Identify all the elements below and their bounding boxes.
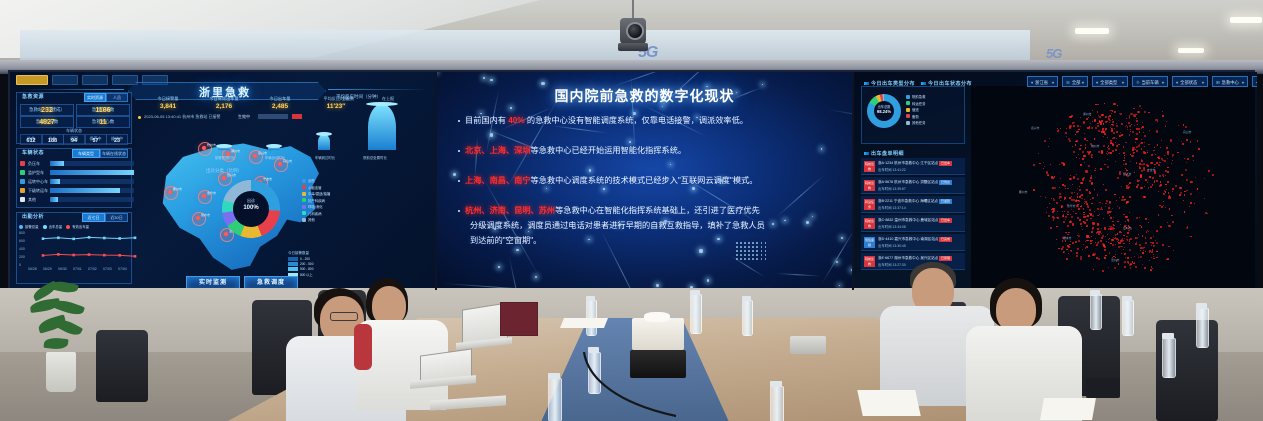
map-dot (1091, 236, 1092, 237)
alert-title-5: 浙E·6677 湖州市急救中心 吴兴区站点 (878, 256, 938, 261)
right-dashboard-panel[interactable]: 今日出车类型分布 今日出车状态分布 出车盘单明细 出车总数 98.24% 院前急… (853, 72, 1257, 290)
map-dot (1112, 244, 1114, 246)
trend-y-tick-3: 200 (19, 255, 25, 259)
map-dot (1078, 235, 1080, 237)
map-dot (1138, 145, 1140, 147)
map-label-1: 嘉兴市 (1031, 126, 1039, 130)
alert-pill-5: 已受理 (939, 256, 952, 261)
visit-legend-swatch-4 (302, 205, 306, 209)
map-dot (1056, 202, 1058, 204)
map-dot (1104, 103, 1105, 104)
visit-legend-item-1: 心脑血管 (302, 185, 330, 190)
map-dot (1160, 147, 1161, 148)
map-dot (1124, 253, 1126, 255)
map-dot (1086, 203, 1088, 205)
map-dot (1077, 217, 1079, 219)
map-dot (1136, 128, 1138, 130)
map-dot (1194, 203, 1195, 204)
trend-seg-0[interactable]: 近七日 (82, 213, 105, 222)
left-tab-2[interactable] (82, 75, 108, 85)
map-dot (1086, 219, 1088, 221)
slide-bullet-0-part-2: 的急救中心没有智能调度系统，仅靠电话接警，调派效率低。 (525, 116, 748, 125)
map-dot (1090, 213, 1092, 215)
map-dot (1193, 160, 1194, 161)
map-dot (1083, 208, 1085, 210)
visit-legend-item-5: 儿科疾病 (302, 211, 330, 216)
slide-bullet-1: 北京、上海、深圳等急救中心已经开始运用智能化指挥系统。 (458, 144, 834, 157)
map-dot (1124, 266, 1126, 268)
map-dot (1198, 148, 1200, 150)
map-dot (1166, 189, 1167, 190)
cable (580, 352, 720, 421)
map-city-label-6: 金华市 (207, 191, 216, 195)
map-dot (1046, 212, 1047, 213)
map-dot (1102, 243, 1104, 245)
slide-bullet-4: 分级调度系统，调度员通过电话对患者进行早期的自救互救指导，填补了急救人员 (470, 219, 846, 232)
filter-急救中心[interactable]: ⊞急救中心▾ (1212, 76, 1248, 87)
type-legend-swatch-0 (906, 95, 910, 99)
map-dot (1133, 263, 1135, 265)
visit-legend-swatch-6 (302, 218, 306, 222)
map-dot (1050, 227, 1052, 229)
net-line-14 (776, 273, 820, 276)
vehicle-bar-label-3: 下级转运车 (28, 188, 48, 193)
map-dot (1065, 219, 1066, 220)
map-dot (1092, 229, 1093, 230)
map-dot (1090, 199, 1091, 200)
map-dot (1125, 163, 1127, 165)
map-dot (1127, 232, 1129, 234)
map-dot (1121, 134, 1122, 135)
alert-pill-0: 已出车 (939, 161, 952, 166)
map-dot (1167, 167, 1168, 168)
map-dot (1108, 267, 1109, 268)
map-dot (1125, 142, 1126, 143)
map-dot (1065, 132, 1067, 134)
alert-badge-0: 院前急救 (864, 161, 875, 172)
map-dot (1127, 126, 1128, 127)
left-tab-3[interactable] (112, 75, 138, 85)
trend-legend-swatch-1 (43, 225, 47, 229)
map-label-2: 杭州市 (1091, 144, 1099, 148)
vehicle-bar-row-0: 负压车 (20, 161, 130, 167)
map-dot (1170, 139, 1172, 141)
map-dot (1126, 239, 1127, 240)
map-dot (1107, 213, 1109, 215)
vehicle-bar-label-4: 其他 (28, 197, 36, 202)
decor-dot (748, 246, 750, 248)
left-tab-0[interactable] (16, 75, 48, 85)
map-dot (1107, 151, 1108, 152)
vehicle-card-header: 车辆状态 (18, 149, 44, 158)
alert-pill-1: 已到达 (939, 180, 952, 185)
decor-dot (761, 242, 763, 244)
map-dot (1124, 261, 1126, 263)
trend-point (88, 236, 91, 239)
map-dot (1057, 217, 1059, 219)
map-dot (1073, 151, 1075, 153)
map-dot (1105, 130, 1106, 131)
map-dot (1116, 200, 1118, 202)
map-dot (1070, 214, 1072, 216)
trend-x-tick-2: 06/30 (58, 267, 67, 271)
map-dot (1092, 121, 1093, 122)
map-dot (1183, 124, 1185, 126)
map-dot (1143, 250, 1144, 251)
map-dot (1121, 253, 1122, 254)
map-dot (1168, 192, 1170, 194)
resource-seg-1[interactable]: 人员 (106, 93, 128, 102)
type-legend-item-4: 其他任务 (906, 120, 926, 125)
net-line-11 (613, 72, 675, 87)
map-dot (1184, 194, 1186, 196)
map-dot (1105, 189, 1107, 191)
map-dot (1159, 175, 1161, 177)
map-dot (1078, 154, 1079, 155)
decor-dot (740, 246, 742, 248)
potted-plant-left (28, 286, 92, 396)
water-bottle (690, 294, 702, 334)
map-dot (1096, 257, 1098, 259)
trend-point (88, 253, 91, 256)
donut-title: 出诊分类（比例） (206, 168, 242, 174)
map-dot (1172, 160, 1173, 161)
map-dot (1167, 171, 1169, 173)
map-dot (1086, 246, 1088, 248)
filter-caret-4: ▾ (1202, 77, 1204, 88)
map-dot (1069, 127, 1070, 128)
map-dot (1167, 222, 1169, 224)
person-scarf (354, 324, 372, 370)
donut-center-value: 100% (232, 205, 270, 211)
map-city-dot-5 (278, 162, 282, 166)
map-dot (1136, 186, 1138, 188)
decor-dot (744, 250, 746, 252)
resource-kpi-value-0: 232 (41, 107, 53, 114)
vehicle-bar-dot-2 (20, 179, 25, 184)
trend-legend-item-2: 有效出车量 (66, 224, 89, 229)
alert-time-2: 出车时间 13:37:14 (878, 205, 906, 210)
map-dot (1056, 239, 1057, 240)
decor-dot (752, 254, 754, 256)
map-dot (1129, 125, 1131, 127)
decor-dot (736, 242, 738, 244)
slide-bullet-2: 上海、南昌、南宁等急救中心调度系统的技术模式已经步入"互联网云调度"模式。 (458, 174, 834, 187)
map-dot (1137, 124, 1138, 125)
map-dot (1130, 113, 1132, 115)
map-dot (1104, 257, 1105, 258)
map-dot (1053, 178, 1054, 179)
map-dot (1195, 177, 1197, 179)
bullet-dot-3 (458, 210, 460, 212)
vehicle-bar-row-4: 其他 (20, 197, 130, 203)
paper-sheet (857, 390, 921, 416)
map-dot (1109, 202, 1111, 204)
map-dot (1075, 134, 1077, 136)
alert-row-2[interactable]: 转运任务浙B·2211 宁波市急救中心 海曙区站点出车时间 13:37:14已返… (861, 196, 965, 213)
vehicle-bar-track-2 (50, 179, 134, 184)
map-dot (1091, 218, 1092, 219)
map-dot (1088, 255, 1090, 257)
map-dot (1053, 219, 1055, 221)
map-dot (1125, 257, 1126, 258)
map-dot (1168, 196, 1170, 198)
map-dot (1128, 186, 1130, 188)
map-dot (1160, 226, 1162, 228)
map-dot (1103, 136, 1104, 137)
net-node-7 (656, 284, 659, 287)
map-dot (1085, 170, 1087, 172)
alert-badge-4: 值班备勤 (864, 237, 875, 248)
map-dot (1104, 249, 1106, 251)
decor-dot (765, 242, 767, 244)
trend-legend: 接警总量出车总量有效出车量 (19, 224, 89, 229)
map-dot (1111, 211, 1112, 212)
map-dot (1079, 189, 1081, 191)
decor-dot (761, 258, 763, 260)
alert-row-3[interactable]: 院前急救浙C·8832 温州市急救中心 鹿城区站点出车时间 13:34:08已出… (861, 215, 965, 232)
map-dot (1105, 236, 1106, 237)
filter-全部类型[interactable]: ▾全部类型▾ (1092, 76, 1128, 87)
map-dot (1148, 222, 1149, 223)
funnel-label-3: 院前总处置时长 (354, 155, 396, 160)
filter-caret-5: ▾ (1242, 77, 1244, 88)
map-dot (1204, 178, 1206, 180)
map-dot (1077, 125, 1079, 127)
map-dot (1100, 123, 1102, 125)
vehicle-bar-dot-0 (20, 161, 25, 166)
filter-caret-3: ▾ (1162, 77, 1164, 88)
laptop-screen (500, 302, 538, 336)
decor-dot-grid (736, 242, 766, 260)
camera-lens-icon (626, 22, 644, 40)
resource-seg-0[interactable]: 实时资源 (84, 93, 106, 102)
map-dot (1153, 236, 1154, 237)
map-dot (1068, 246, 1070, 248)
map-dot (1097, 123, 1099, 125)
filter-全部状态[interactable]: ▾全部状态▾ (1172, 76, 1208, 87)
map-dot (1105, 255, 1106, 256)
paper-sheet (560, 318, 608, 328)
map-dot (1106, 241, 1107, 242)
map-dot (1091, 127, 1093, 129)
map-dot (1160, 181, 1162, 183)
map-dot (1107, 154, 1108, 155)
trend-point (57, 253, 60, 256)
vehicle-seg-1[interactable]: 车辆在线状态 (100, 149, 128, 158)
map-dot (1051, 198, 1052, 199)
alert-badge-2: 转运任务 (864, 199, 875, 210)
map-dot (1098, 258, 1100, 260)
map-dot (1077, 200, 1079, 202)
map-dot (1115, 161, 1116, 162)
alert-title-1: 浙A·5678 杭州市急救中心 拱墅区站点 (878, 180, 938, 185)
alert-row-4[interactable]: 值班备勤浙D·4410 嘉兴市急救中心 南湖区站点出车时间 13:30:45已完… (861, 234, 965, 251)
map-dot (1144, 142, 1145, 143)
map-dot (1077, 188, 1079, 190)
left-tab-1[interactable] (52, 75, 78, 85)
trend-seg-1[interactable]: 近30日 (105, 213, 128, 222)
decor-dot (752, 258, 754, 260)
map-dot (1075, 213, 1077, 215)
filter-全部区域[interactable]: ⌖全部区域▾ (1252, 76, 1257, 87)
net-node-18 (589, 169, 592, 172)
visit-type-legend: 创伤心脑血管中毒/昏迷/抽搐妇产科疾病呼吸/消化儿科疾病其他 (302, 178, 330, 224)
map-label-7: 台州市 (1123, 226, 1131, 230)
map-dot (1080, 164, 1081, 165)
map-dot (1097, 223, 1099, 225)
water-bottle (1090, 294, 1102, 330)
map-label-8: 衢州市 (1019, 190, 1027, 194)
slide-bullet-5-part-0: 到达前的"空窗期"。 (470, 236, 541, 245)
map-dot (1165, 184, 1166, 185)
map-dot (1162, 115, 1164, 117)
map-dot (1141, 139, 1142, 140)
map-dot (1082, 229, 1084, 231)
map-dot (1109, 238, 1110, 239)
trend-x-tick-3: 07/01 (73, 267, 82, 271)
map-dot (1140, 250, 1141, 251)
map-dot (1129, 134, 1130, 135)
map-dot (1124, 155, 1125, 156)
map-dot (1108, 145, 1109, 146)
map-dot (1076, 255, 1078, 257)
map-dot (1144, 247, 1145, 248)
map-dot (1114, 128, 1116, 130)
map-dot (1047, 207, 1048, 208)
map-dot (1145, 237, 1147, 239)
filter-label-1: 全部 (1072, 80, 1081, 85)
map-dot (1083, 244, 1085, 246)
decor-dot (736, 246, 738, 248)
trend-x-tick-6: 07/04 (118, 267, 127, 271)
trend-y-tick-4: 0 (19, 263, 21, 267)
map-dot (1070, 178, 1071, 179)
map-dot (1071, 216, 1073, 218)
net-node-8 (707, 279, 710, 282)
map-dot (1104, 164, 1106, 166)
filter-label-0: 浙江省 (1035, 80, 1048, 85)
map-dot (1121, 239, 1123, 241)
resource-mini-4: 维修中23 (106, 134, 128, 145)
map-dot (1144, 135, 1146, 137)
map-dot (1156, 130, 1158, 132)
map-dot (1173, 250, 1174, 251)
map-dot (1090, 240, 1092, 242)
map-dot (1110, 217, 1112, 219)
bullet-dot-0 (458, 120, 460, 122)
map-dot (1116, 125, 1118, 127)
map-dot (1086, 140, 1088, 142)
map-dot (1082, 178, 1084, 180)
map-dot (1171, 163, 1172, 164)
map-dot (1189, 206, 1190, 207)
map-dot (1097, 228, 1099, 230)
slide-bullet-3: 杭州、济南、昆明、苏州等急救中心在智能化指挥系统基础上，还引进了医疗优先 (458, 204, 834, 217)
map-dot (1111, 130, 1113, 132)
map-dot (1038, 153, 1039, 154)
right-header-detail: 出车盘单明细 (871, 150, 904, 157)
map-dot (1119, 136, 1120, 137)
map-dot (1208, 170, 1210, 172)
decor-dot (752, 246, 754, 248)
map-dot (1138, 128, 1140, 130)
map-dot (1069, 140, 1071, 142)
right-point-map[interactable]: 湖州市嘉兴市杭州市绍兴市宁波市舟山市金华市台州市衢州市丽水市温州市 (971, 86, 1255, 290)
decor-dot (736, 258, 738, 260)
map-dot (1102, 203, 1103, 204)
type-legend-item-3: 备勤 (906, 114, 926, 119)
plant-leaf (55, 317, 83, 339)
trend-legend-swatch-2 (66, 225, 70, 229)
map-dot (1068, 253, 1069, 254)
alert-row-1[interactable]: 院前急救浙A·5678 杭州市急救中心 拱墅区站点出车时间 13:39:57已到… (861, 177, 965, 194)
map-dot (1125, 221, 1126, 222)
map-dot (1142, 122, 1143, 123)
map-dot (1129, 249, 1131, 251)
map-dot (1150, 269, 1152, 271)
left-dashboard-panel[interactable]: 浙里急救 今日接警量3,841今日有效出车量2,176今日出车量2,485平均反… (10, 72, 436, 290)
map-dot (1082, 151, 1084, 153)
map-dot (1119, 207, 1120, 208)
trend-point (72, 238, 75, 241)
map-dot (1153, 150, 1154, 151)
map-dot (1095, 168, 1096, 169)
map-dot (1145, 242, 1147, 244)
visit-legend-item-6: 其他 (302, 217, 330, 222)
plant-leaf (53, 297, 85, 318)
map-dot (1139, 217, 1140, 218)
map-dot (1185, 169, 1187, 171)
map-dot (1148, 231, 1150, 233)
decor-dot (748, 258, 750, 260)
filter-全部[interactable]: ☰全部▾ (1062, 76, 1088, 87)
visit-legend-label-0: 创伤 (308, 178, 315, 183)
map-dot (1175, 185, 1177, 187)
funnel-bar-2 (318, 134, 330, 150)
map-city-dot-3 (222, 176, 226, 180)
vehicle-bar-fill-4 (50, 197, 58, 202)
map-dot (1112, 221, 1114, 223)
map-dot (1115, 234, 1117, 236)
alert-row-0[interactable]: 院前急救浙A·1234 杭州市急救中心 江干区站点出车时间 13:41:22已出… (861, 158, 965, 175)
vehicle-bar-label-1: 监护型车 (28, 170, 44, 175)
map-label-6: 金华市 (1067, 204, 1075, 208)
map-legend-row-0: 0 - 200 (288, 257, 328, 261)
tissue-sheet (644, 312, 670, 322)
filter-当前车辆[interactable]: ⛗当前车辆▾ (1132, 76, 1168, 87)
vehicle-seg-0[interactable]: 车辆类型 (72, 149, 100, 158)
map-dot (1117, 177, 1119, 179)
map-dot (1144, 186, 1145, 187)
trend-point (118, 237, 121, 240)
map-dot (1079, 219, 1081, 221)
filter-浙江省[interactable]: ▾浙江省▾ (1027, 76, 1058, 87)
map-dot (1152, 184, 1154, 186)
map-dot (1192, 155, 1194, 157)
filter-label-2: 全部类型 (1100, 80, 1117, 85)
map-dot (1097, 104, 1099, 106)
map-dot (1162, 111, 1163, 112)
tissue-box (632, 318, 684, 350)
map-dot (1080, 117, 1081, 118)
map-dot (1070, 175, 1071, 176)
map-dot (1197, 188, 1199, 190)
dispatch-type-center-value: 98.24% (867, 109, 901, 114)
map-dot (1179, 194, 1181, 196)
map-dot (1075, 241, 1077, 243)
trend-x-tick-1: 06/29 (43, 267, 52, 271)
